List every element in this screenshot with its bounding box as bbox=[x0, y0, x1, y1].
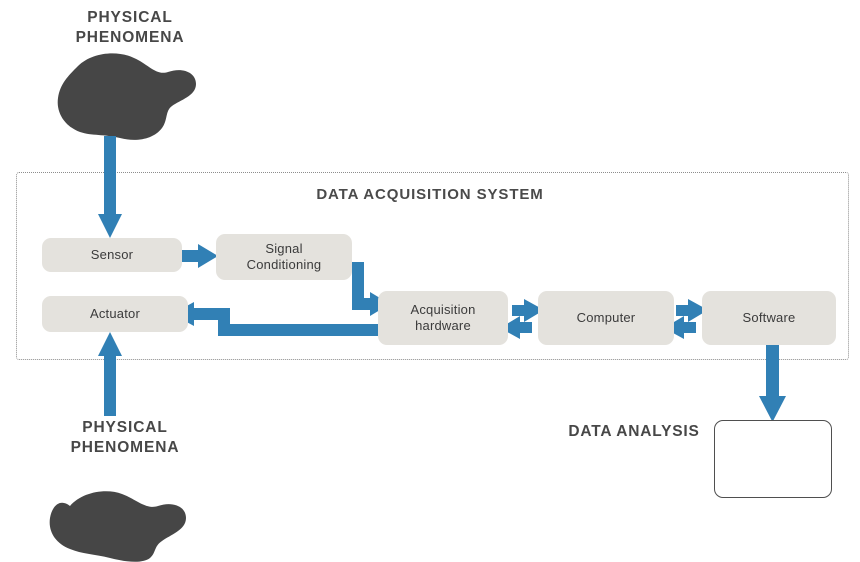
node-sensor-label: Sensor bbox=[91, 247, 133, 263]
node-sensor[interactable]: Sensor bbox=[42, 238, 182, 272]
data-analysis-label: DATA ANALYSIS bbox=[560, 422, 708, 442]
node-acquisition-hardware-label: Acquisition hardware bbox=[410, 302, 475, 334]
node-computer[interactable]: Computer bbox=[538, 291, 674, 345]
node-actuator[interactable]: Actuator bbox=[42, 296, 188, 332]
node-actuator-label: Actuator bbox=[90, 306, 140, 322]
arrow-acquisition-to-actuator bbox=[172, 302, 382, 336]
arrow-actuator-to-phenomena bbox=[98, 332, 122, 416]
arrow-phenomena-to-sensor bbox=[98, 136, 122, 238]
node-acquisition-hardware[interactable]: Acquisition hardware bbox=[378, 291, 508, 345]
physical-phenomena-label-bottom: PHYSICAL PHENOMENA bbox=[45, 418, 205, 459]
physical-phenomena-blob-top bbox=[58, 53, 196, 140]
physical-phenomena-blob-bottom bbox=[50, 491, 186, 561]
node-signal-conditioning-label: Signal Conditioning bbox=[247, 241, 322, 273]
node-software[interactable]: Software bbox=[702, 291, 836, 345]
node-computer-label: Computer bbox=[577, 310, 636, 326]
physical-phenomena-label-top: PHYSICAL PHENOMENA bbox=[50, 8, 210, 49]
node-signal-conditioning[interactable]: Signal Conditioning bbox=[216, 234, 352, 280]
node-software-label: Software bbox=[743, 310, 796, 326]
arrow-sensor-to-signal-conditioning bbox=[182, 244, 218, 268]
arrow-software-to-data-analysis bbox=[759, 338, 786, 422]
diagram-canvas: DATA ACQUISITION SYSTEM bbox=[0, 0, 860, 562]
data-analysis-chart-box[interactable] bbox=[714, 420, 832, 498]
